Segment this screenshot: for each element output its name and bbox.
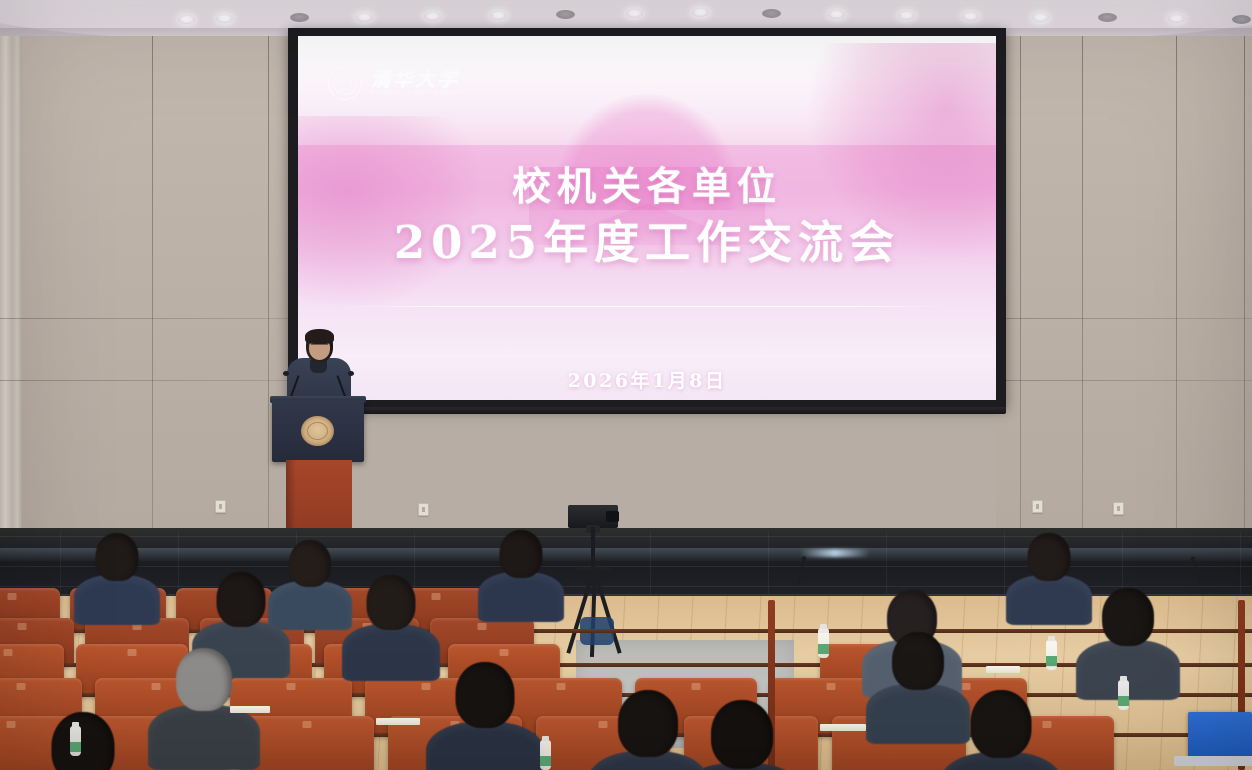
seat-number-plate [287, 683, 296, 690]
logo-wordmark: 清华大学 Tsinghua University [371, 69, 464, 98]
seat-number-plate [17, 683, 26, 690]
seat-number-plate [303, 721, 312, 728]
bottle-label [70, 742, 81, 752]
projection-screen: 清华大学 Tsinghua University 校机关各单位 2025年度工作… [298, 36, 996, 400]
speaker-glasses [311, 344, 328, 348]
wall-seam-vertical [268, 36, 269, 530]
ceiling-downlight-icon [898, 11, 915, 20]
bottle-label [1046, 656, 1057, 666]
document-paper [376, 718, 420, 725]
attendee-head [52, 712, 115, 770]
laptop-screen [1188, 712, 1252, 760]
seat-number-plate [692, 683, 701, 690]
ceiling-fixture [762, 9, 781, 18]
mic-head-left [283, 371, 289, 376]
stage-tile-line-vertical [768, 532, 769, 594]
attendee-head [618, 690, 678, 757]
attendee-shoulders [478, 572, 564, 622]
ceiling-downlight-icon [692, 8, 709, 17]
bottle-cap [1120, 676, 1127, 681]
wall-outlet [418, 503, 429, 516]
document-paper [230, 706, 270, 713]
attendee-head [971, 690, 1032, 758]
stage-tile-line-vertical [60, 532, 61, 594]
wall-seam-vertical [1244, 36, 1245, 530]
ceiling-downlight-icon [490, 11, 507, 20]
wall-seam-horizontal [0, 318, 300, 319]
audience-member [20, 712, 146, 770]
audience-member [74, 533, 160, 623]
slide-title-line2: 2025年度工作交流会 [298, 216, 996, 271]
audience-member [426, 662, 544, 770]
seat-number-plate [7, 721, 16, 728]
attendee-head [367, 575, 416, 630]
camera-tripod-assembly [566, 505, 628, 660]
wall-seam-horizontal [996, 380, 1252, 381]
slide-title-block: 校机关各单位 2025年度工作交流会 [298, 164, 996, 270]
wall-right [996, 36, 1252, 530]
tsinghua-seal-icon [328, 66, 362, 100]
tripod-column [591, 527, 595, 571]
water-bottle [818, 628, 829, 658]
logo-name-en: Tsinghua University [371, 92, 464, 98]
bottle-cap [542, 736, 549, 741]
attendee-head [456, 662, 515, 728]
attendee-shoulders [74, 575, 160, 625]
wall-seam-vertical [1020, 36, 1021, 530]
wall-outlet [1113, 502, 1124, 515]
stage-tile-line-vertical [178, 532, 179, 594]
attendee-head [711, 700, 773, 769]
stage-tile-line-vertical [1240, 532, 1241, 594]
audience-member [478, 530, 564, 620]
audience-member [588, 690, 708, 770]
water-bottle [70, 726, 81, 756]
attendee-head [500, 530, 543, 578]
podium-crest-icon [301, 416, 334, 446]
mic-head-right [348, 371, 354, 376]
water-bottle [540, 740, 551, 770]
seat-number-plate [478, 623, 487, 630]
ceiling-downlight-icon [356, 13, 373, 22]
ceiling-fixture [556, 10, 575, 19]
auditorium-seat [240, 716, 374, 770]
seat-number-plate [557, 683, 566, 690]
logo-name-cn: 清华大学 [371, 69, 464, 89]
bottle-label [1118, 696, 1129, 706]
attendee-shoulders [148, 705, 260, 770]
speaker-hair [305, 329, 334, 344]
ceiling-downlight-icon [626, 9, 643, 18]
seat-number-plate [500, 649, 509, 656]
wall-seam-vertical [152, 36, 153, 530]
wall-seam-horizontal [996, 318, 1252, 319]
bottle-cap [820, 624, 827, 629]
attendee-head [217, 572, 266, 627]
auditorium-scene: 清华大学 Tsinghua University 校机关各单位 2025年度工作… [0, 0, 1252, 770]
bottle-cap [1048, 636, 1055, 641]
wall-pilaster [0, 36, 22, 530]
ceiling-downlight-icon [1032, 13, 1049, 22]
wall-left [0, 36, 300, 530]
wall-seam-horizontal [0, 380, 300, 381]
stage-tile-line-vertical [650, 532, 651, 594]
attendee-head [892, 632, 944, 690]
laptop-keyboard [1174, 756, 1252, 766]
seat-number-plate [8, 593, 17, 600]
wall-outlet [215, 500, 226, 513]
attendee-head [96, 533, 139, 581]
seat-number-plate [128, 649, 137, 656]
stage-gloss-highlight [800, 549, 870, 557]
audience-member [866, 632, 970, 741]
stage-tile-line-vertical [1122, 532, 1123, 594]
attendee-head [289, 540, 331, 587]
attendee-head [176, 648, 232, 711]
slide-divider-rule [344, 306, 950, 307]
seat-number-plate [18, 623, 27, 630]
bottle-label [818, 644, 829, 654]
slide-title-line1: 校机关各单位 [298, 164, 996, 212]
attendee-head [1028, 533, 1071, 581]
attendee-shoulders [866, 684, 970, 744]
ceiling-downlight-icon [424, 12, 441, 21]
ceiling-downlight-icon [828, 10, 845, 19]
attendee-head [1102, 588, 1154, 646]
attendee-shoulders [426, 722, 544, 770]
stage-tile-line-vertical [1004, 532, 1005, 594]
document-paper [986, 666, 1020, 673]
podium-area [270, 330, 366, 545]
seat-number-plate [4, 649, 13, 656]
document-paper [820, 724, 866, 731]
slide-date: 2026年1月8日 [298, 366, 996, 393]
seat-number-plate [827, 683, 836, 690]
water-bottle [1046, 640, 1057, 670]
wall-seam-vertical [1176, 36, 1177, 530]
camera-lens-icon [606, 511, 619, 522]
wall-outlet [1032, 500, 1043, 513]
projection-screen-frame: 清华大学 Tsinghua University 校机关各单位 2025年度工作… [288, 28, 1006, 408]
bottle-cap [72, 722, 79, 727]
bottle-label [540, 756, 551, 766]
ceiling-downlight-icon [962, 12, 979, 21]
wall-seam-vertical [1082, 36, 1083, 530]
water-bottle [1118, 680, 1129, 710]
stage-tile-line-vertical [886, 532, 887, 594]
slide-logo: 清华大学 Tsinghua University [328, 66, 464, 100]
